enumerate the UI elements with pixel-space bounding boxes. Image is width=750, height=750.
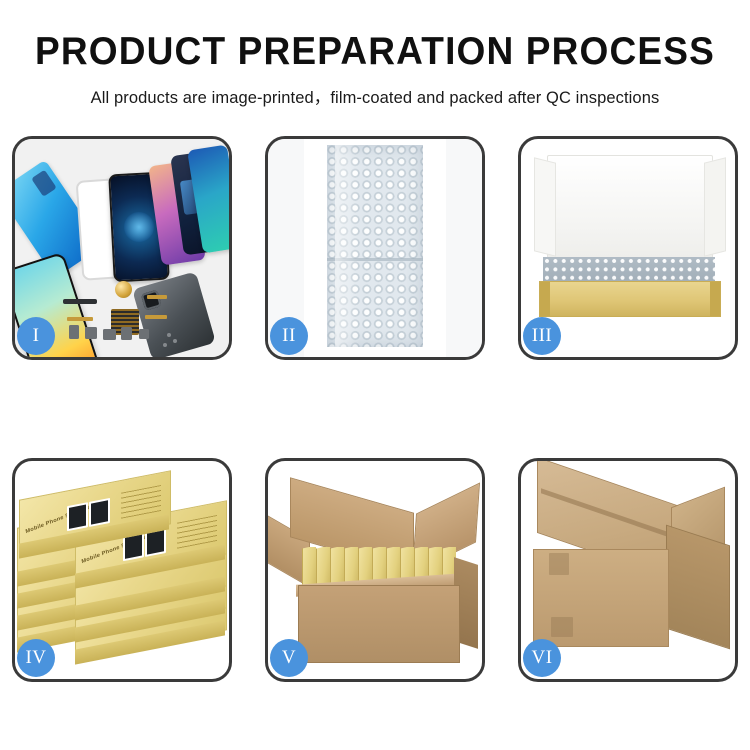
step-badge-6: VI [523, 639, 561, 677]
step-5-panel: V [265, 458, 485, 682]
part-vibrator-motor [115, 281, 132, 298]
bubble-wrapped-contents [543, 257, 715, 283]
box-label-screen-image-2 [89, 498, 110, 527]
lid-flap-right [704, 157, 726, 256]
process-step-3[interactable]: III [518, 136, 738, 360]
part-screw-1 [167, 333, 171, 337]
bubble-wrap-pouch [327, 145, 423, 347]
process-step-6[interactable]: VI [518, 458, 738, 682]
process-step-5[interactable]: V [265, 458, 485, 682]
sealed-carton-right-face [666, 525, 730, 650]
part-flex-cable-1 [67, 317, 93, 321]
step-badge-4: IV [17, 639, 55, 677]
part-flex-cable-3 [145, 315, 167, 319]
retail-box-stack: Mobile Phone Spare Parts Mobile Phone Sp… [17, 479, 231, 671]
carton-handle-cutout-bottom [551, 617, 573, 637]
part-battery-strip [63, 299, 97, 304]
part-bracket [103, 329, 116, 340]
product-preparation-infographic: PRODUCT PREPARATION PROCESS All products… [0, 0, 750, 750]
box-label-spec-lines [121, 485, 161, 519]
process-step-4[interactable]: Mobile Phone Spare Parts Mobile Phone Sp… [12, 458, 232, 682]
backdrop-right [446, 139, 482, 357]
box-label-spec-lines [177, 515, 217, 549]
step-2-panel: II [265, 136, 485, 360]
box-label-screen-image-1 [67, 502, 88, 531]
spare-parts-cluster [63, 281, 183, 351]
bubble-wrap-highlight [335, 145, 360, 347]
carton-front-face [298, 585, 460, 663]
step-badge-2: II [270, 317, 308, 355]
camera-module [31, 170, 57, 197]
page-subtitle: All products are image-printed，film-coat… [0, 84, 750, 108]
part-screw-2 [173, 339, 177, 343]
carton-handle-cutout-top [549, 553, 569, 575]
part-flex-cable-2 [147, 295, 167, 299]
part-taptic-engine [121, 327, 132, 340]
process-step-1[interactable]: I [12, 136, 232, 360]
step-badge-5: V [270, 639, 308, 677]
step-1-panel: I [12, 136, 232, 360]
step-4-panel: Mobile Phone Spare Parts Mobile Phone Sp… [12, 458, 232, 682]
part-button [139, 329, 149, 339]
part-screw-3 [163, 343, 167, 347]
step-3-panel: III [518, 136, 738, 360]
lid-flap-left [534, 157, 556, 256]
part-sim-tray [85, 327, 97, 339]
step-6-panel: VI [518, 458, 738, 682]
step-badge-1: I [17, 317, 55, 355]
step-badge-3: III [523, 317, 561, 355]
process-steps-grid: I II [12, 136, 738, 682]
process-step-2[interactable]: II [265, 136, 485, 360]
page-title: PRODUCT PREPARATION PROCESS [19, 32, 732, 71]
mailer-box-front-panel [539, 281, 721, 317]
header: PRODUCT PREPARATION PROCESS All products… [0, 0, 750, 108]
part-speaker [69, 325, 79, 339]
